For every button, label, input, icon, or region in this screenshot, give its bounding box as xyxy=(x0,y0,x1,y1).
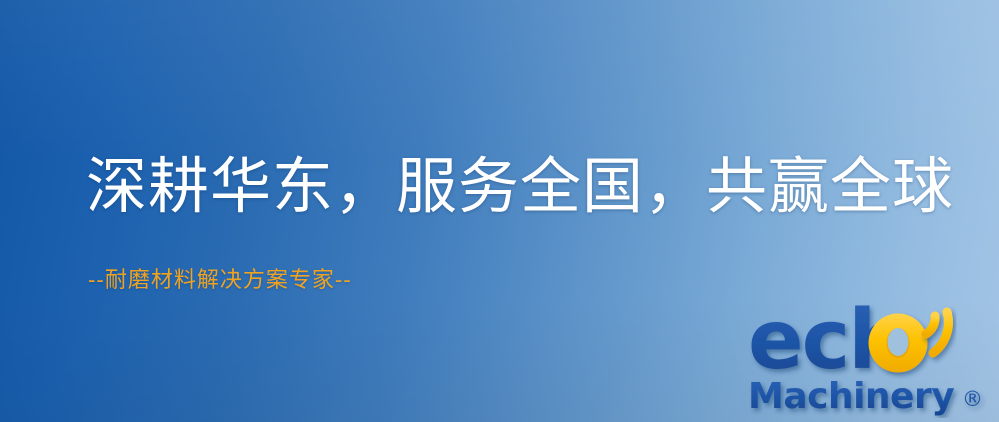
logo-accent-o xyxy=(869,314,928,373)
logo-registered-mark: ® xyxy=(962,387,983,411)
banner-headline: 深耕华东，服务全国，共赢全球 xyxy=(86,152,954,222)
banner-subtitle: --耐磨材料解决方案专家-- xyxy=(88,268,352,294)
logo-tagline: Machinery ® xyxy=(748,376,983,417)
logo-signal-arcs-icon xyxy=(926,312,948,353)
logo-tagline-text: Machinery xyxy=(748,376,954,417)
echo-machinery-logo[interactable]: ech Machinery ® xyxy=(748,296,994,418)
hero-banner: 深耕华东，服务全国，共赢全球 --耐磨材料解决方案专家-- xyxy=(0,0,999,422)
